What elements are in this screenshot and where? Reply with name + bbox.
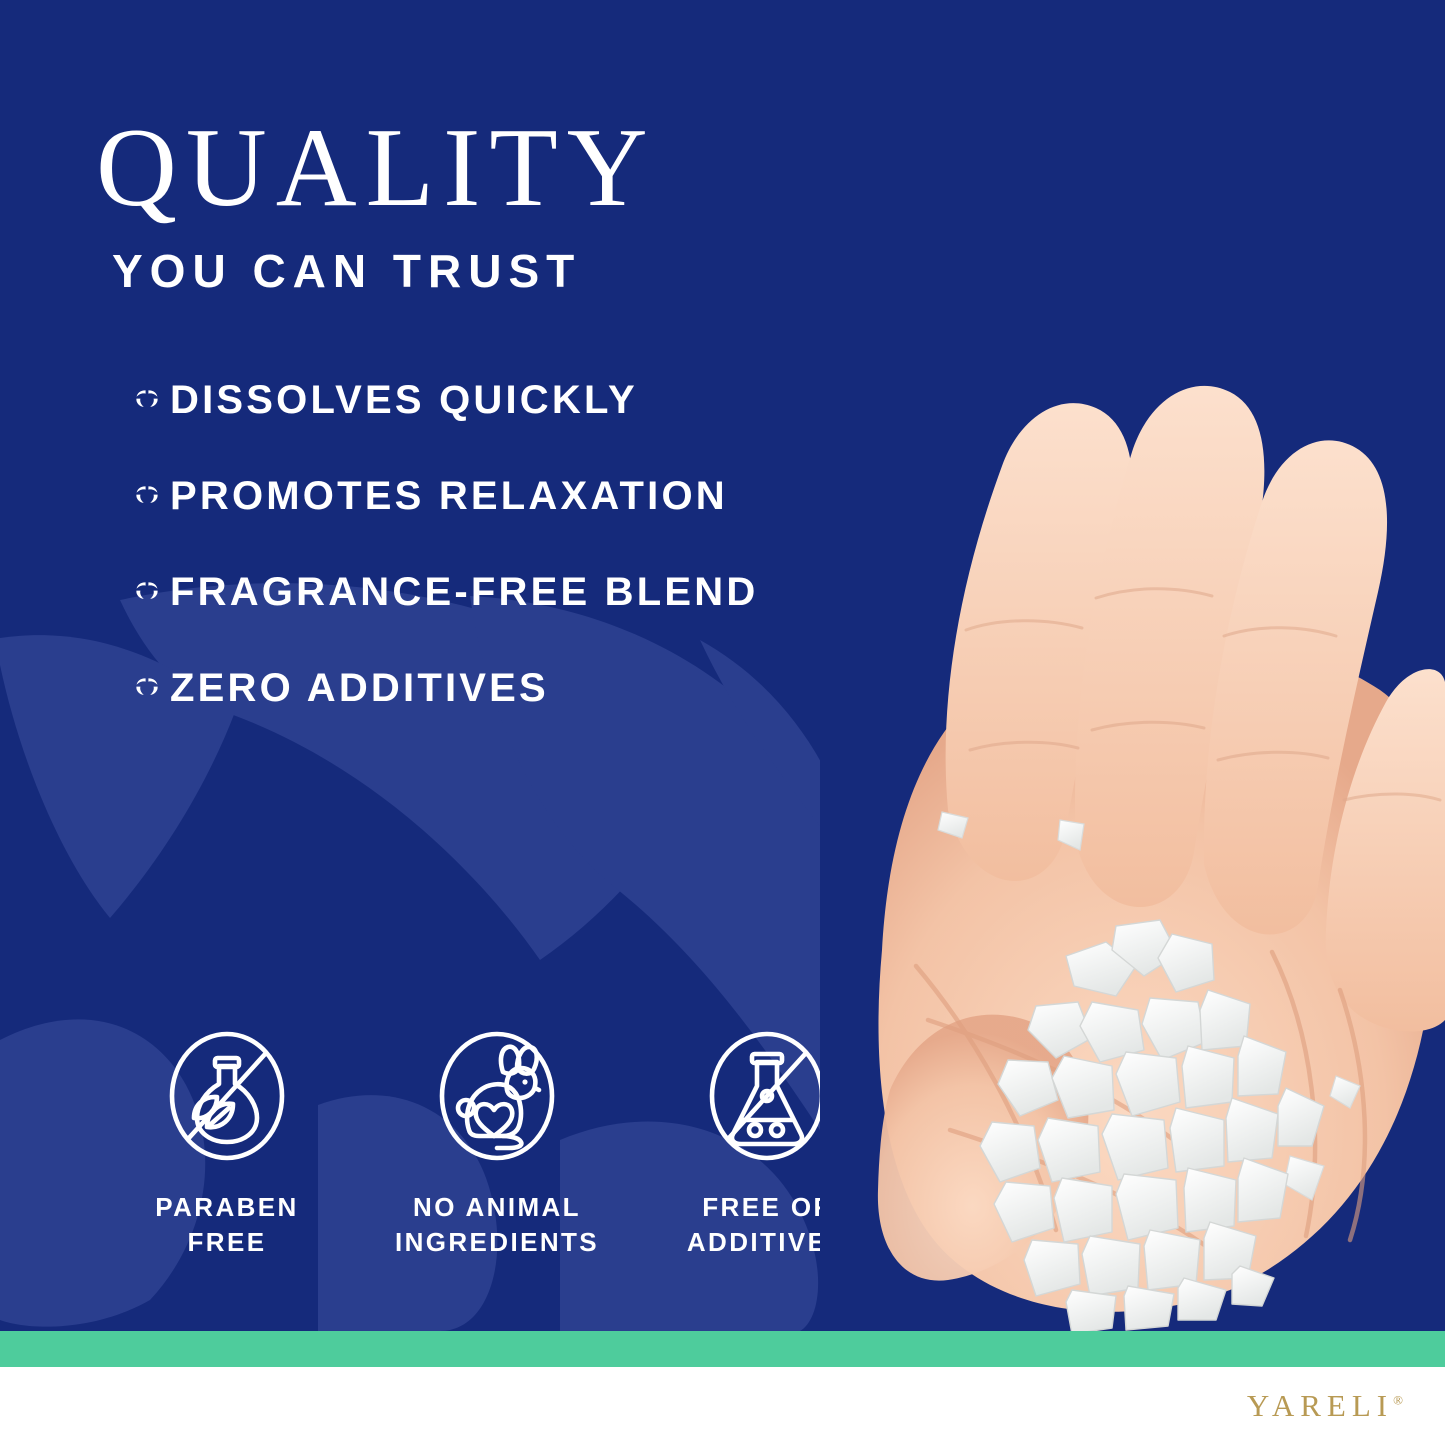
no-paraben-bottle-leaf-icon (161, 1022, 293, 1170)
page-subtitle: YOU CAN TRUST (112, 248, 581, 294)
feature-label: PROMOTES RELAXATION (170, 476, 728, 516)
double-crescent-bullet-icon (130, 575, 164, 609)
feature-label: FRAGRANCE-FREE BLEND (170, 572, 758, 612)
no-additives-flask-icon (701, 1022, 833, 1170)
product-infographic: QUALITY YOU CAN TRUST DISSOLVES QUICKLY (0, 0, 1445, 1445)
trust-badge: PARABEN FREE (92, 1022, 362, 1260)
navy-panel: QUALITY YOU CAN TRUST DISSOLVES QUICKLY (0, 0, 1445, 1331)
trust-badge-label: NO ANIMAL INGREDIENTS (395, 1190, 599, 1260)
double-crescent-bullet-icon (130, 671, 164, 705)
brand-logo: YARELI® (1247, 1388, 1403, 1424)
trust-badge-group: PARABEN FREE (92, 1022, 902, 1260)
feature-label: ZERO ADDITIVES (170, 668, 549, 708)
rabbit-heart-cruelty-free-icon (431, 1022, 563, 1170)
trust-badge-label: PARABEN FREE (155, 1190, 298, 1260)
trust-badge: NO ANIMAL INGREDIENTS (362, 1022, 632, 1260)
feature-label: DISSOLVES QUICKLY (170, 380, 638, 420)
footer-bar: YARELI® (0, 1367, 1445, 1445)
double-crescent-bullet-icon (130, 479, 164, 513)
product-photo (820, 330, 1445, 1331)
registered-trademark-icon: ® (1393, 1393, 1403, 1408)
double-crescent-bullet-icon (130, 383, 164, 417)
page-title: QUALITY (96, 112, 657, 224)
brand-name: YARELI (1247, 1388, 1393, 1423)
green-divider-band (0, 1331, 1445, 1367)
